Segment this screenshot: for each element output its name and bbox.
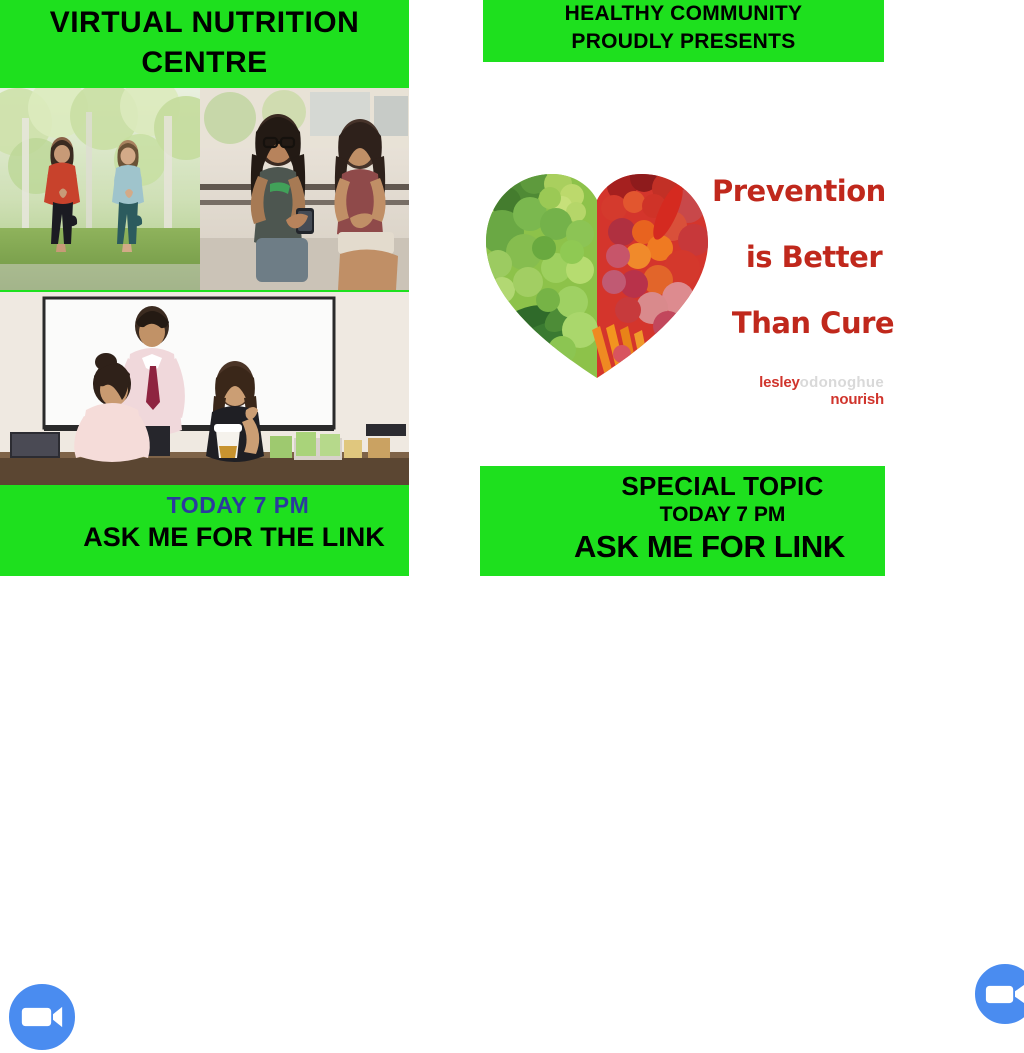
brand-first-name: lesley xyxy=(759,374,800,391)
photo-women-doing-yoga-in-park xyxy=(0,88,200,290)
slogan: Prevention is Better Than Cure xyxy=(712,158,912,356)
photo-office-team-meeting-room xyxy=(0,292,409,485)
zoom-video-icon[interactable] xyxy=(972,961,1024,1027)
right-header-line-1: HEALTHY COMMUNITY xyxy=(483,0,884,28)
page-title: VIRTUAL NUTRITION CENTRE xyxy=(0,0,409,87)
right-cta-action: ASK ME FOR LINK xyxy=(542,529,877,565)
page-title-line-2: CENTRE xyxy=(0,43,409,83)
left-panel: VIRTUAL NUTRITION CENTRE xyxy=(0,0,409,576)
photo-row-top xyxy=(0,88,409,290)
zoom-video-icon[interactable] xyxy=(6,981,78,1053)
page-title-line-1: VIRTUAL NUTRITION xyxy=(0,3,409,43)
brand-logo: lesleyodonoghue nourish xyxy=(724,374,884,409)
slogan-line-3: Than Cure xyxy=(712,290,912,356)
brand-last-name: odonoghue xyxy=(800,374,884,391)
brand-tagline: nourish xyxy=(724,391,884,409)
brand-name-row: lesleyodonoghue xyxy=(724,374,884,391)
right-header-line-2: PROUDLY PRESENTS xyxy=(483,28,884,56)
right-header-banner: HEALTHY COMMUNITY PROUDLY PRESENTS xyxy=(483,0,884,62)
slogan-line-2: is Better xyxy=(712,224,912,290)
photo-two-women-on-bench-with-phone xyxy=(200,88,409,290)
right-cta-banner: SPECIAL TOPIC TODAY 7 PM ASK ME FOR LINK xyxy=(480,466,885,576)
left-cta-action: ASK ME FOR THE LINK xyxy=(62,522,406,553)
left-cta-time: TODAY 7 PM xyxy=(72,492,404,519)
left-cta-banner: TODAY 7 PM ASK ME FOR THE LINK xyxy=(0,486,409,576)
poster-canvas: VIRTUAL NUTRITION CENTRE xyxy=(0,0,1024,576)
heart-of-fruits-and-vegetables-image xyxy=(472,140,722,390)
slogan-line-1: Prevention xyxy=(712,158,912,224)
right-cta-time: TODAY 7 PM xyxy=(570,503,875,527)
right-cta-topic: SPECIAL TOPIC xyxy=(570,471,875,502)
